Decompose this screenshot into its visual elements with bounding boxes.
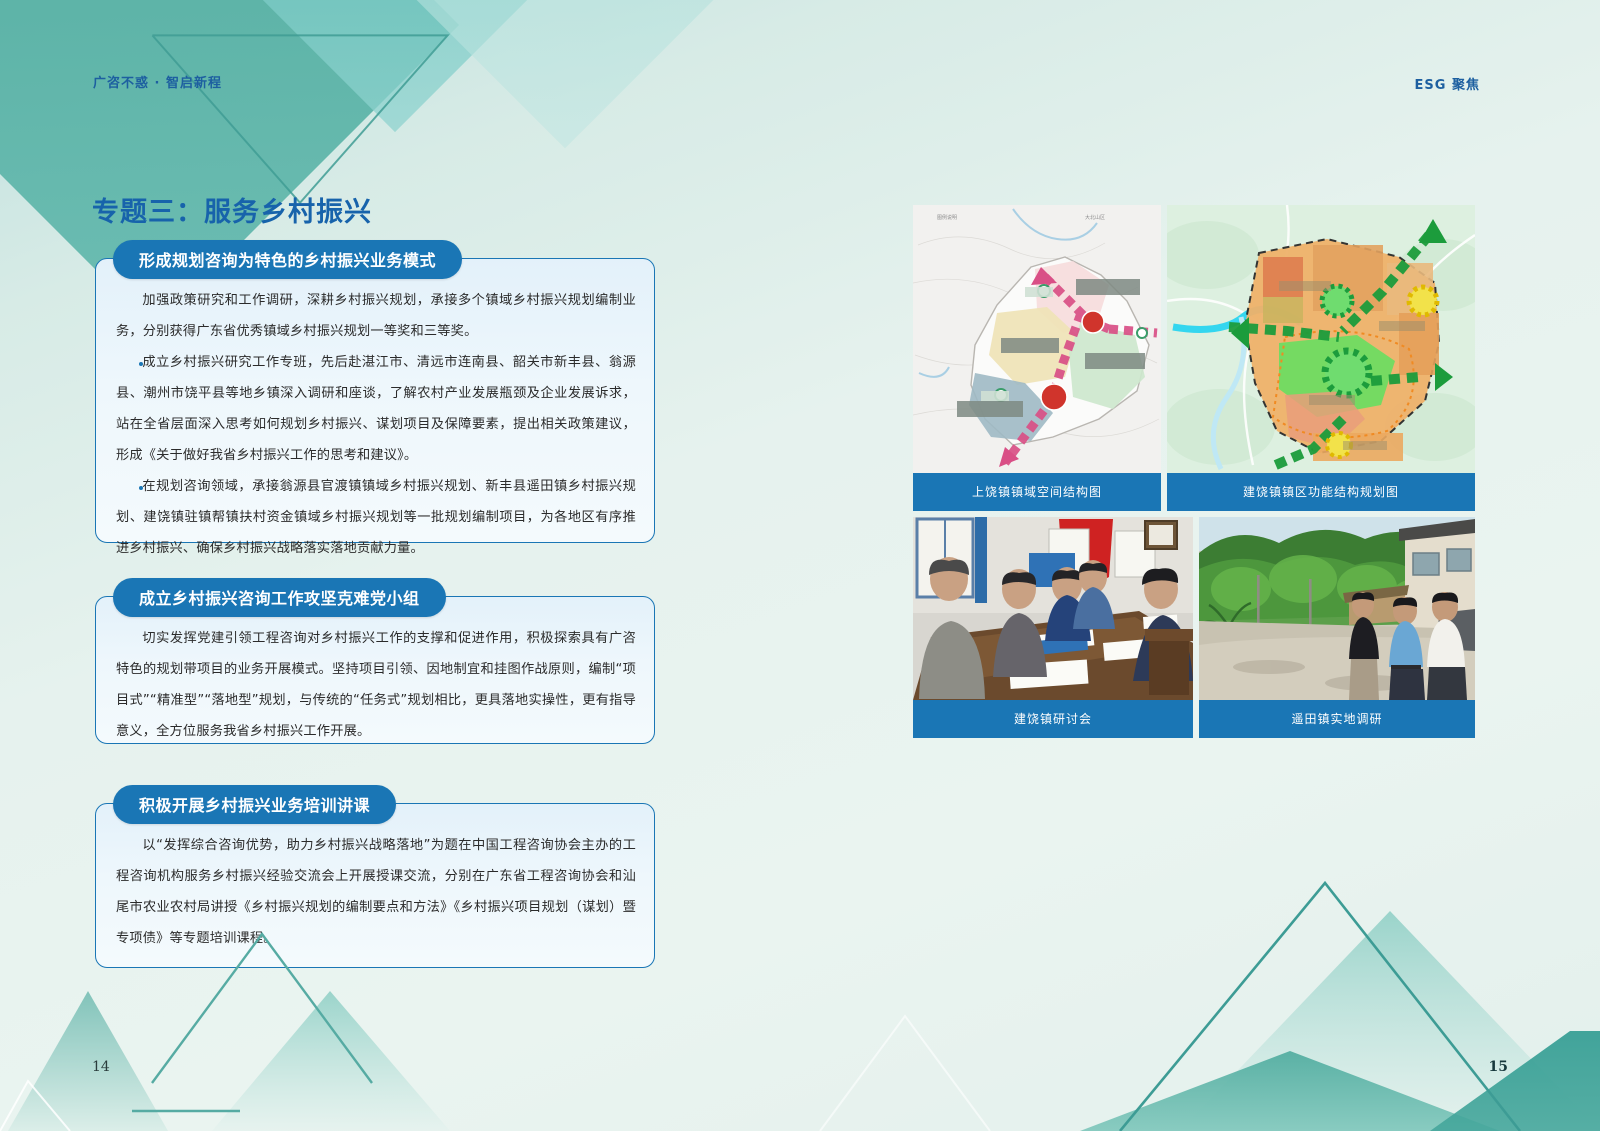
section-2-box: 切实发挥党建引领工程咨询对乡村振兴工作的支撑和促进作用，积极探索具有广咨特色的规… — [95, 596, 655, 744]
gallery-item-1[interactable]: 图例说明 大北山区 上饶镇镇域空间结构图 — [913, 205, 1161, 511]
gallery-caption-2: 建饶镇镇区功能结构规划图 — [1167, 473, 1475, 511]
planning-map-zoning-image: 图例说明 大北山区 — [913, 205, 1161, 473]
section-3-badge: 积极开展乡村振兴业务培训讲课 — [113, 785, 396, 824]
gallery-item-4[interactable]: 遥田镇实地调研 — [1199, 517, 1475, 738]
gallery-caption-4: 遥田镇实地调研 — [1199, 700, 1475, 738]
section-1-paragraph-3: 在规划咨询领域，承接翁源县官渡镇镇域乡村振兴规划、新丰县遥田镇乡村振兴规划、建饶… — [116, 471, 636, 564]
photo-fieldwork-image — [1199, 517, 1475, 700]
gallery-caption-3: 建饶镇研讨会 — [913, 700, 1193, 738]
section-training: 以“发挥综合咨询优势，助力乡村振兴战略落地”为题在中国工程咨询协会主办的工程咨询… — [95, 785, 655, 950]
section-2-badge: 成立乡村振兴咨询工作攻坚克难党小组 — [113, 578, 446, 617]
page-number-right: 15 — [1489, 1059, 1508, 1075]
page-number-left: 14 — [92, 1059, 110, 1075]
deco-v-outline-icon — [140, 30, 460, 210]
brochure-spread: 广咨不惑 · 智启新程 ESG 聚焦 专题三：服务乡村振兴 加强政策研究和工作调… — [0, 0, 1600, 1131]
deco-diamond-mid — [183, 0, 607, 132]
section-3-box: 以“发挥综合咨询优势，助力乡村振兴战略落地”为题在中国工程咨询协会主办的工程咨询… — [95, 803, 655, 968]
image-gallery: 图例说明 大北山区 上饶镇镇域空间结构图 — [913, 205, 1475, 738]
header-section-label: ESG 聚焦 — [1415, 74, 1480, 93]
section-party-group: 切实发挥党建引领工程咨询对乡村振兴工作的支撑和促进作用，积极探索具有广咨特色的规… — [95, 578, 655, 743]
svg-text:大北山区: 大北山区 — [1085, 214, 1105, 221]
planning-map-landuse-image — [1167, 205, 1475, 473]
section-2-paragraph-1: 切实发挥党建引领工程咨询对乡村振兴工作的支撑和促进作用，积极探索具有广咨特色的规… — [116, 623, 636, 747]
gallery-item-3[interactable]: 建饶镇研讨会 — [913, 517, 1193, 738]
gallery-caption-1: 上饶镇镇域空间结构图 — [913, 473, 1161, 511]
section-business-model: 加强政策研究和工作调研，深耕乡村振兴规划，承接多个镇域乡村振兴规划编制业务，分别… — [95, 240, 655, 545]
header-tagline: 广咨不惑 · 智启新程 — [93, 72, 222, 91]
section-3-paragraph-1: 以“发挥综合咨询优势，助力乡村振兴战略落地”为题在中国工程咨询协会主办的工程咨询… — [116, 830, 636, 954]
svg-text:图例说明: 图例说明 — [937, 214, 957, 221]
section-1-box: 加强政策研究和工作调研，深耕乡村振兴规划，承接多个镇域乡村振兴规划编制业务，分别… — [95, 258, 655, 543]
section-1-paragraph-2: 成立乡村振兴研究工作专班，先后赴湛江市、清远市连南县、韶关市新丰县、翁源县、潮州… — [116, 347, 636, 471]
section-1-badge: 形成规划咨询为特色的乡村振兴业务模式 — [113, 240, 462, 279]
page-title: 专题三：服务乡村振兴 — [92, 190, 372, 229]
section-1-paragraph-1: 加强政策研究和工作调研，深耕乡村振兴规划，承接多个镇域乡村振兴规划编制业务，分别… — [116, 285, 636, 347]
deco-diamond-light — [332, 0, 799, 148]
photo-meeting-image — [913, 517, 1193, 700]
gallery-item-2[interactable]: 建饶镇镇区功能结构规划图 — [1167, 205, 1475, 511]
